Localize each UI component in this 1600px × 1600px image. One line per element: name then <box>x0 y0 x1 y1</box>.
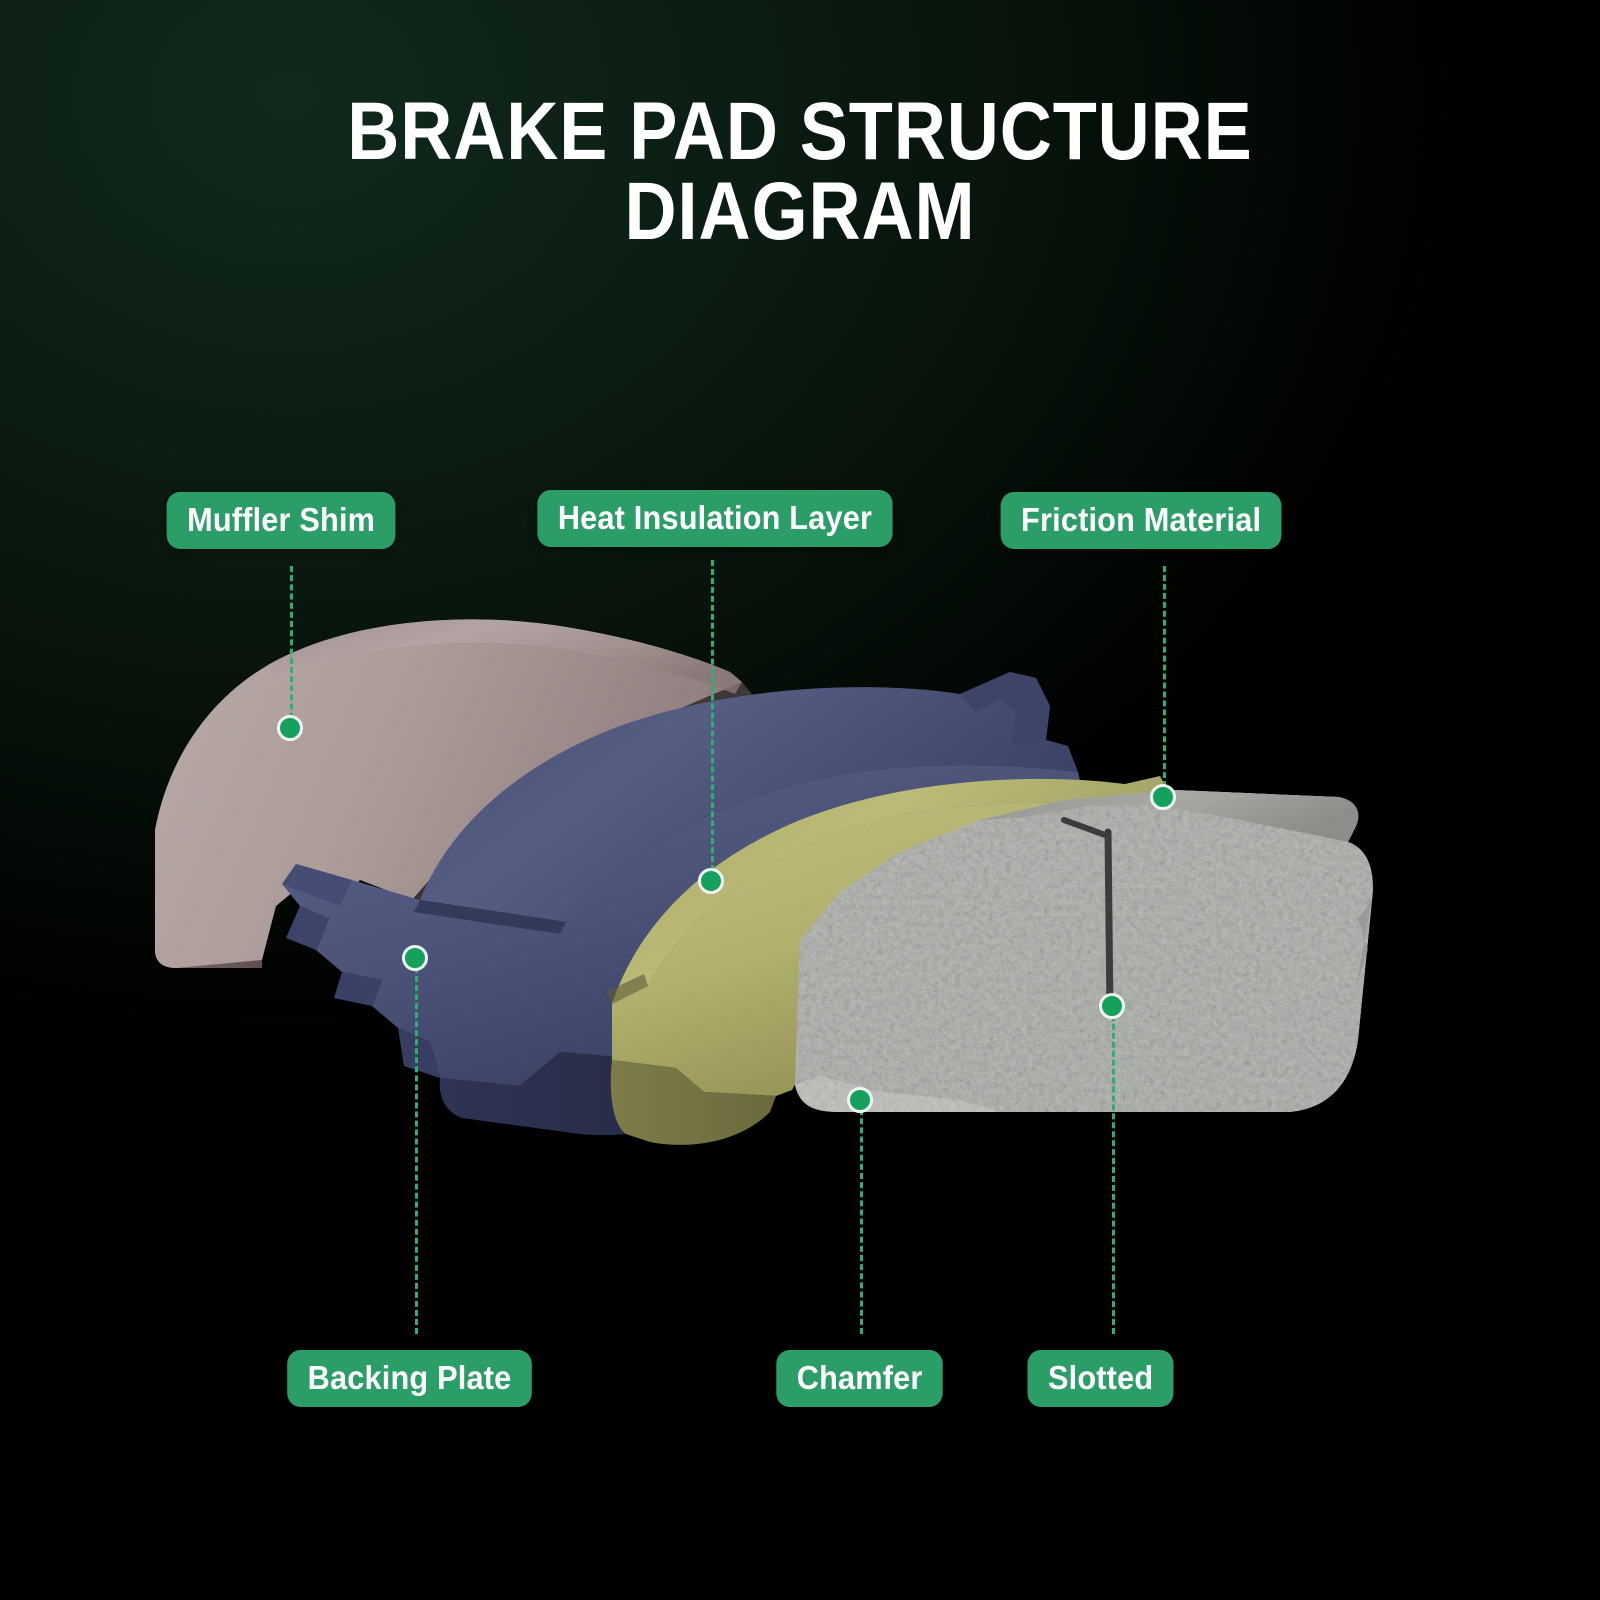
leader-line-muffler-shim <box>290 566 293 728</box>
leader-line-slotted <box>1112 1006 1115 1334</box>
anchor-dot-chamfer[interactable] <box>847 1087 873 1113</box>
page-title: BRAKE PAD STRUCTURE DIAGRAM <box>0 92 1600 251</box>
callout-heat-insulation-layer[interactable]: Heat Insulation Layer <box>537 490 892 547</box>
leader-line-heat-insulation-layer <box>711 560 714 880</box>
page-title-line-2: DIAGRAM <box>96 172 1504 252</box>
leader-line-backing-plate <box>415 958 418 1334</box>
anchor-dot-backing-plate[interactable] <box>402 945 428 971</box>
leader-line-chamfer <box>860 1100 863 1334</box>
leader-line-friction-material <box>1163 566 1166 796</box>
callout-slotted[interactable]: Slotted <box>1028 1350 1174 1407</box>
callout-backing-plate[interactable]: Backing Plate <box>287 1350 532 1407</box>
callout-muffler-shim[interactable]: Muffler Shim <box>167 492 396 549</box>
anchor-dot-slotted[interactable] <box>1099 993 1125 1019</box>
anchor-dot-friction-material[interactable] <box>1150 784 1176 810</box>
page-title-line-1: BRAKE PAD STRUCTURE <box>96 92 1504 172</box>
callout-chamfer[interactable]: Chamfer <box>776 1350 943 1407</box>
anchor-dot-muffler-shim[interactable] <box>277 715 303 741</box>
anchor-dot-heat-insulation-layer[interactable] <box>698 868 724 894</box>
callout-friction-material[interactable]: Friction Material <box>1001 492 1282 549</box>
diagram-canvas: BRAKE PAD STRUCTURE DIAGRAM <box>0 0 1600 1600</box>
